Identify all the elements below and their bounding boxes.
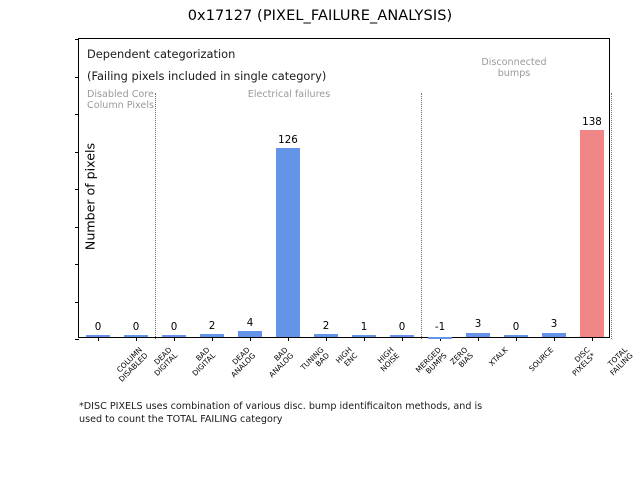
x-tick-label: DEADANALOG [224, 346, 258, 380]
x-tick-mark [592, 337, 593, 341]
x-tick-mark [212, 337, 213, 341]
x-tick-mark [174, 337, 175, 341]
category-divider [421, 93, 422, 339]
x-tick-mark [250, 337, 251, 341]
x-tick-mark [288, 337, 289, 341]
bar[interactable] [124, 335, 148, 337]
annotation-group-electrical-failures: Electrical failures [219, 89, 359, 100]
bar[interactable] [238, 331, 262, 337]
annotation-group-disabled-core-line1: Disabled Core [87, 89, 154, 100]
x-tick-mark [478, 337, 479, 341]
x-tick-mark [554, 337, 555, 341]
bar[interactable] [504, 335, 528, 337]
x-tick-label: TUNINGBAD [299, 346, 331, 378]
bar[interactable] [352, 335, 376, 337]
bar[interactable] [86, 335, 110, 337]
y-tick-mark [75, 264, 79, 265]
y-tick-mark [75, 114, 79, 115]
bar[interactable] [162, 335, 186, 337]
annotation-failing-pixels-note: (Failing pixels included in single categ… [87, 69, 326, 83]
x-tick-mark [136, 337, 137, 341]
x-tick-mark [98, 337, 99, 341]
y-tick-mark [75, 189, 79, 190]
annotation-group-disconnected-bumps: Disconnected bumps [449, 57, 579, 80]
x-tick-label: DISCPIXELS* [565, 346, 597, 378]
annotation-group-disabled-core: Disabled Core Column Pixels [87, 89, 154, 112]
x-tick-label: COLUMNDISABLED [112, 346, 150, 384]
x-tick-label: DEADDIGITAL [147, 346, 179, 378]
bar[interactable] [200, 334, 224, 337]
x-tick-label: BADANALOG [262, 346, 296, 380]
annotation-group-disabled-core-line2: Column Pixels [87, 100, 154, 111]
x-tick-label: MERGEDBUMPS [414, 346, 449, 381]
bar[interactable] [276, 148, 300, 337]
x-tick-label: HIGHENC [335, 346, 360, 371]
y-axis-label: Number of pixels [83, 0, 98, 432]
x-tick-label: XTALK [488, 346, 510, 368]
bar-value-label: 126 [266, 135, 310, 145]
category-divider [155, 93, 156, 339]
x-tick-label: SOURCE [528, 346, 555, 373]
x-tick-label: TOTALFAILING [603, 346, 635, 378]
figure-canvas: 0x17127 (PIXEL_FAILURE_ANALYSIS) Number … [0, 0, 640, 480]
bar[interactable] [542, 333, 566, 338]
bar-value-label: 4 [228, 318, 272, 328]
footnote: *DISC PIXELS uses combination of various… [79, 400, 599, 426]
annotation-dependent-categorization: Dependent categorization [87, 47, 235, 61]
bar-value-label: 138 [570, 117, 614, 127]
x-tick-label: HIGHNOISE [374, 346, 402, 374]
bar[interactable] [580, 130, 604, 337]
plot-area: Number of pixels 0255075100125150175200 … [78, 38, 610, 338]
y-tick-mark [75, 152, 79, 153]
bar[interactable] [390, 335, 414, 337]
x-tick-mark [326, 337, 327, 341]
y-tick-mark [75, 302, 79, 303]
footnote-line-1: *DISC PIXELS uses combination of various… [79, 400, 599, 413]
x-tick-mark [516, 337, 517, 341]
x-tick-label: ZEROBIAS [449, 346, 475, 372]
x-tick-mark [402, 337, 403, 341]
x-tick-label: BADDIGITAL [185, 346, 217, 378]
footnote-line-2: used to count the TOTAL FAILING category [79, 413, 599, 426]
y-tick-mark [75, 77, 79, 78]
bar-value-label: 3 [532, 319, 576, 329]
y-tick-mark [75, 39, 79, 40]
y-tick-mark [75, 339, 79, 340]
category-divider [611, 93, 612, 339]
x-tick-mark [364, 337, 365, 341]
bar[interactable] [314, 334, 338, 337]
bar[interactable] [428, 337, 452, 339]
annotation-group-disconnected-bumps-line1: Disconnected [449, 57, 579, 68]
bar[interactable] [466, 333, 490, 338]
y-tick-mark [75, 227, 79, 228]
annotation-group-disconnected-bumps-line2: bumps [449, 68, 579, 79]
